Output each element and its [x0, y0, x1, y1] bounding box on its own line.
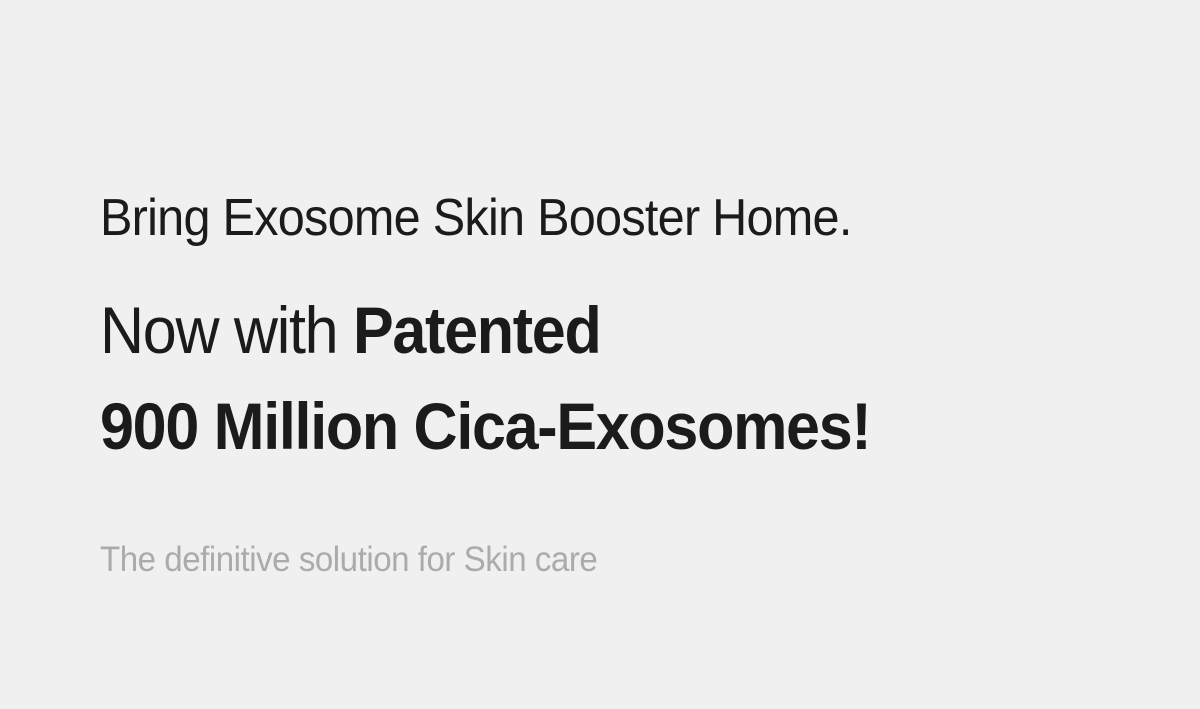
headline-line-2-strong-part: Patented — [353, 293, 600, 367]
headline-line-1: Bring Exosome Skin Booster Home. — [100, 186, 1072, 250]
headline-line-2-light-part: Now with — [100, 293, 353, 367]
headline-line-3: 900 Million Cica-Exosomes! — [100, 386, 1062, 466]
promo-banner: Bring Exosome Skin Booster Home. Now wit… — [0, 0, 1200, 709]
headline-group: Bring Exosome Skin Booster Home. Now wit… — [100, 186, 1140, 466]
headline-line-2: Now with Patented — [100, 290, 1062, 370]
subline-text: The definitive solution for Skin care — [100, 537, 597, 583]
